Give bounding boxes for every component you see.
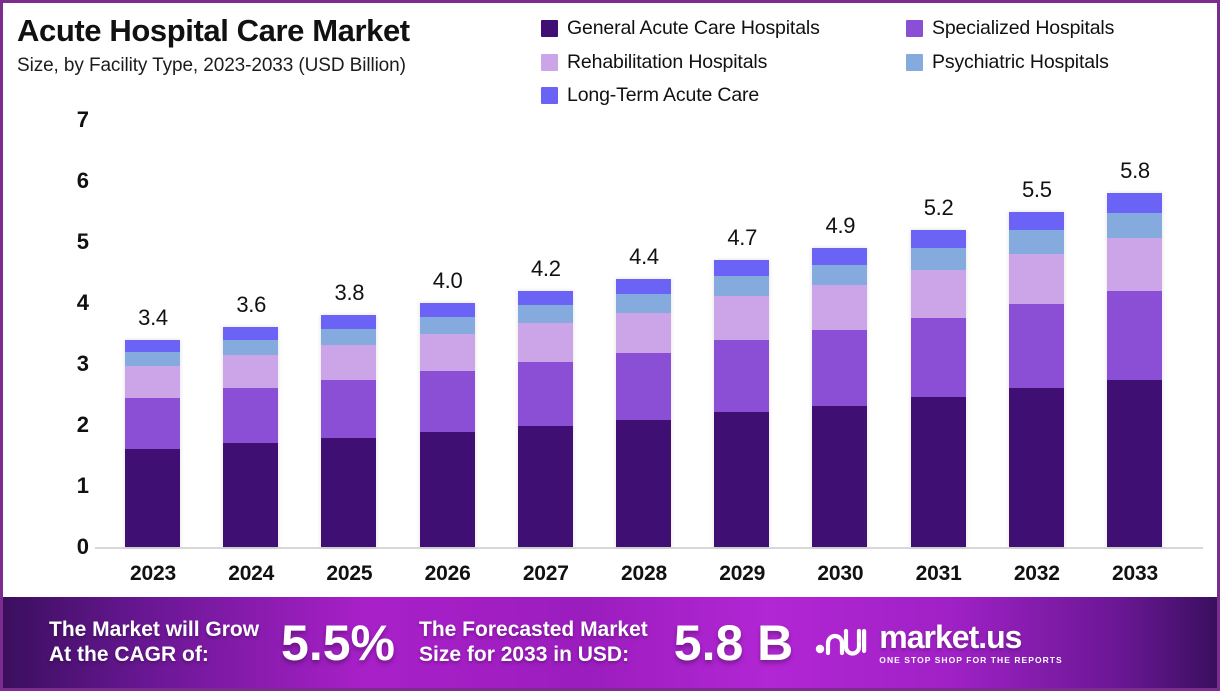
bar-value-label: 3.8: [294, 280, 404, 306]
bar-segment-1[interactable]: [714, 340, 769, 412]
bar-segment-0[interactable]: [1009, 388, 1064, 547]
bar-segment-4[interactable]: [420, 303, 475, 317]
chart-infographic: Acute Hospital Care Market Size, by Faci…: [0, 0, 1220, 691]
bar-segment-3[interactable]: [420, 317, 475, 334]
bar-segment-2[interactable]: [321, 345, 376, 380]
bar-segment-0[interactable]: [714, 412, 769, 547]
x-axis-tick-label: 2031: [884, 562, 994, 586]
bar-segment-4[interactable]: [1009, 212, 1064, 230]
bar-value-label: 4.2: [491, 256, 601, 282]
x-axis-tick-label: 2029: [687, 562, 797, 586]
x-axis-tick-label: 2033: [1080, 562, 1190, 586]
x-axis-tick-label: 2027: [491, 562, 601, 586]
cagr-caption-line1: The Market will Grow: [49, 618, 259, 642]
bar-segment-2[interactable]: [518, 323, 573, 361]
bar-segment-1[interactable]: [223, 388, 278, 443]
bar-segment-0[interactable]: [911, 397, 966, 547]
forecast-caption-line1: The Forecasted Market: [419, 618, 648, 642]
bar-value-label: 3.6: [196, 292, 306, 318]
bar-value-label: 4.4: [589, 244, 699, 270]
stacked-bar[interactable]: [420, 303, 475, 547]
bar-group[interactable]: 3.82025: [321, 3, 376, 603]
bar-segment-1[interactable]: [1107, 291, 1162, 379]
bar-segment-0[interactable]: [616, 420, 671, 547]
bar-segment-2[interactable]: [223, 355, 278, 388]
bar-segment-0[interactable]: [125, 449, 180, 547]
footer-banner: The Market will Grow At the CAGR of: 5.5…: [3, 597, 1217, 688]
bar-series-container: 3.420233.620243.820254.020264.220274.420…: [3, 3, 1220, 603]
x-axis-tick-label: 2023: [98, 562, 208, 586]
market-us-logo-text: market.us ONE STOP SHOP FOR THE REPORTS: [879, 621, 1062, 665]
bar-segment-2[interactable]: [1009, 254, 1064, 305]
bar-segment-4[interactable]: [714, 260, 769, 276]
bar-segment-0[interactable]: [1107, 380, 1162, 547]
market-us-logo-icon: [815, 623, 869, 662]
forecast-value: 5.8 B: [674, 618, 794, 668]
bar-segment-1[interactable]: [321, 380, 376, 438]
bar-value-label: 4.7: [687, 225, 797, 251]
bar-segment-1[interactable]: [420, 371, 475, 432]
bar-segment-4[interactable]: [518, 291, 573, 306]
bar-group[interactable]: 5.52032: [1009, 3, 1064, 603]
cagr-value: 5.5%: [281, 618, 395, 668]
bar-group[interactable]: 5.22031: [911, 3, 966, 603]
bar-segment-4[interactable]: [125, 340, 180, 352]
bar-segment-2[interactable]: [812, 285, 867, 330]
stacked-bar[interactable]: [616, 279, 671, 547]
bar-segment-2[interactable]: [911, 270, 966, 318]
bar-segment-3[interactable]: [125, 352, 180, 367]
bar-segment-4[interactable]: [1107, 193, 1162, 213]
bar-segment-0[interactable]: [223, 443, 278, 547]
cagr-caption: The Market will Grow At the CAGR of:: [49, 618, 259, 666]
bar-segment-0[interactable]: [420, 432, 475, 547]
bar-segment-1[interactable]: [125, 398, 180, 450]
bar-segment-3[interactable]: [812, 265, 867, 286]
bar-group[interactable]: 3.62024: [223, 3, 278, 603]
bar-segment-4[interactable]: [812, 248, 867, 264]
bar-segment-1[interactable]: [911, 318, 966, 397]
x-axis-tick-label: 2030: [785, 562, 895, 586]
forecast-caption-line2: Size for 2033 in USD:: [419, 643, 648, 667]
bar-segment-1[interactable]: [518, 362, 573, 426]
bar-segment-2[interactable]: [1107, 238, 1162, 291]
bar-group[interactable]: 5.82033: [1107, 3, 1162, 603]
x-axis-tick-label: 2026: [393, 562, 503, 586]
bar-segment-3[interactable]: [321, 329, 376, 345]
bar-segment-4[interactable]: [223, 327, 278, 340]
stacked-bar[interactable]: [1009, 212, 1064, 548]
market-us-logo[interactable]: market.us ONE STOP SHOP FOR THE REPORTS: [815, 621, 1062, 665]
forecast-caption: The Forecasted Market Size for 2033 in U…: [419, 618, 648, 666]
bar-value-label: 4.9: [785, 213, 895, 239]
bar-segment-2[interactable]: [420, 334, 475, 371]
bar-segment-4[interactable]: [911, 230, 966, 248]
bar-segment-4[interactable]: [321, 315, 376, 328]
bar-segment-2[interactable]: [714, 296, 769, 339]
bar-group[interactable]: 4.72029: [714, 3, 769, 603]
bar-value-label: 5.5: [982, 177, 1092, 203]
bar-segment-1[interactable]: [812, 330, 867, 405]
x-axis-tick-label: 2025: [294, 562, 404, 586]
bar-segment-1[interactable]: [1009, 304, 1064, 388]
x-axis-tick-label: 2032: [982, 562, 1092, 586]
x-axis-tick-label: 2024: [196, 562, 306, 586]
bar-segment-3[interactable]: [223, 340, 278, 355]
bar-segment-0[interactable]: [518, 426, 573, 547]
bar-group[interactable]: 4.42028: [616, 3, 671, 603]
x-axis-tick-label: 2028: [589, 562, 699, 586]
bar-segment-3[interactable]: [1107, 213, 1162, 238]
bar-group[interactable]: 4.22027: [518, 3, 573, 603]
bar-value-label: 5.8: [1080, 158, 1190, 184]
stacked-bar[interactable]: [321, 315, 376, 547]
bar-segment-3[interactable]: [616, 294, 671, 313]
bar-segment-3[interactable]: [714, 276, 769, 296]
bar-group[interactable]: 4.02026: [420, 3, 475, 603]
bar-value-label: 4.0: [393, 268, 503, 294]
stacked-bar[interactable]: [1107, 193, 1162, 547]
chart-plot-area: 01234567 3.420233.620243.820254.020264.2…: [3, 3, 1220, 603]
bar-group[interactable]: 4.92030: [812, 3, 867, 603]
bar-segment-3[interactable]: [518, 305, 573, 323]
bar-segment-0[interactable]: [812, 406, 867, 548]
stacked-bar[interactable]: [518, 291, 573, 547]
bar-segment-3[interactable]: [911, 248, 966, 270]
bar-segment-1[interactable]: [616, 353, 671, 420]
bar-value-label: 3.4: [98, 305, 208, 331]
stacked-bar[interactable]: [714, 260, 769, 547]
stacked-bar[interactable]: [911, 230, 966, 547]
bar-segment-2[interactable]: [616, 313, 671, 353]
cagr-caption-line2: At the CAGR of:: [49, 643, 259, 667]
bar-segment-4[interactable]: [616, 279, 671, 294]
logo-tagline: ONE STOP SHOP FOR THE REPORTS: [879, 656, 1062, 665]
logo-wordmark: market.us: [879, 621, 1062, 653]
bar-value-label: 5.2: [884, 195, 994, 221]
bar-group[interactable]: 3.42023: [125, 3, 180, 603]
bar-segment-3[interactable]: [1009, 230, 1064, 254]
bar-segment-2[interactable]: [125, 366, 180, 397]
stacked-bar[interactable]: [812, 248, 867, 547]
stacked-bar[interactable]: [223, 327, 278, 547]
bar-segment-0[interactable]: [321, 438, 376, 547]
stacked-bar[interactable]: [125, 340, 180, 547]
